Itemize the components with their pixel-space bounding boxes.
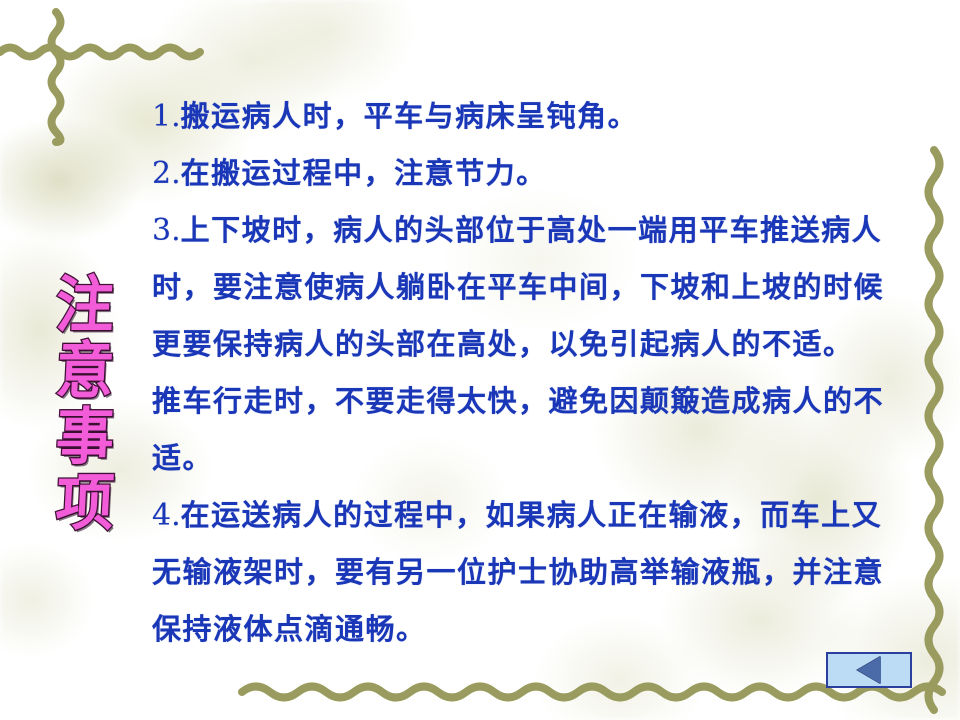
body-line: 推车行走时，不要走得太快，避免因颠簸造成病人的不: [152, 373, 952, 430]
body-line: 适。: [152, 430, 952, 487]
list-number: 2.: [152, 156, 181, 191]
body-line: 2.在搬运过程中，注意节力。: [152, 145, 952, 202]
title-char-3: 事: [54, 402, 116, 472]
title-char-2: 意: [54, 336, 116, 406]
list-number: 3.: [152, 213, 181, 248]
title-char-1: 注: [54, 270, 116, 340]
body-line-text: 推车行走时，不要走得太快，避免因颠簸造成病人的不: [152, 384, 884, 418]
list-number: 4.: [152, 498, 181, 533]
presentation-slide: 注 意 事 项 1.搬运病人时，平车与病床呈钝角。 2.在搬运过程中，注意节力。…: [0, 0, 960, 720]
decor-wave-top-vertical: [42, 12, 70, 142]
body-line: 4.在运送病人的过程中，如果病人正在输液，而车上又: [152, 487, 952, 544]
body-line: 时，要注意使病人躺卧在平车中间，下坡和上坡的时候: [152, 259, 952, 316]
body-line-text: 搬运病人时，平车与病床呈钝角。: [181, 99, 639, 133]
slide-body-text: 1.搬运病人时，平车与病床呈钝角。 2.在搬运过程中，注意节力。 3.上下坡时，…: [152, 88, 952, 658]
body-line-text: 无输液架时，要有另一位护士协助高举输液瓶，并注意: [152, 555, 884, 589]
body-line-text: 上下坡时，病人的头部位于高处一端用平车推送病人: [181, 213, 883, 247]
decor-wave-top-horizontal: [0, 36, 210, 64]
body-line-text: 保持液体点滴通畅。: [152, 612, 427, 646]
body-line: 1.搬运病人时，平车与病床呈钝角。: [152, 88, 952, 145]
body-line-text: 时，要注意使病人躺卧在平车中间，下坡和上坡的时候: [152, 270, 884, 304]
body-line: 更要保持病人的头部在高处，以免引起病人的不适。: [152, 316, 952, 373]
back-navigation-button[interactable]: [826, 652, 912, 688]
title-char-4: 项: [54, 468, 116, 538]
body-line: 无输液架时，要有另一位护士协助高举输液瓶，并注意: [152, 544, 952, 601]
body-line-text: 更要保持病人的头部在高处，以免引起病人的不适。: [152, 327, 854, 361]
body-line-text: 适。: [152, 441, 213, 475]
body-line: 保持液体点滴通畅。: [152, 601, 952, 658]
body-line-text: 在运送病人的过程中，如果病人正在输液，而车上又: [181, 498, 883, 532]
triangle-left-icon: [857, 656, 881, 684]
list-number: 1.: [152, 99, 181, 134]
body-line: 3.上下坡时，病人的头部位于高处一端用平车推送病人: [152, 202, 952, 259]
body-line-text: 在搬运过程中，注意节力。: [181, 156, 547, 190]
slide-title-wordart: 注 意 事 项: [44, 272, 126, 536]
